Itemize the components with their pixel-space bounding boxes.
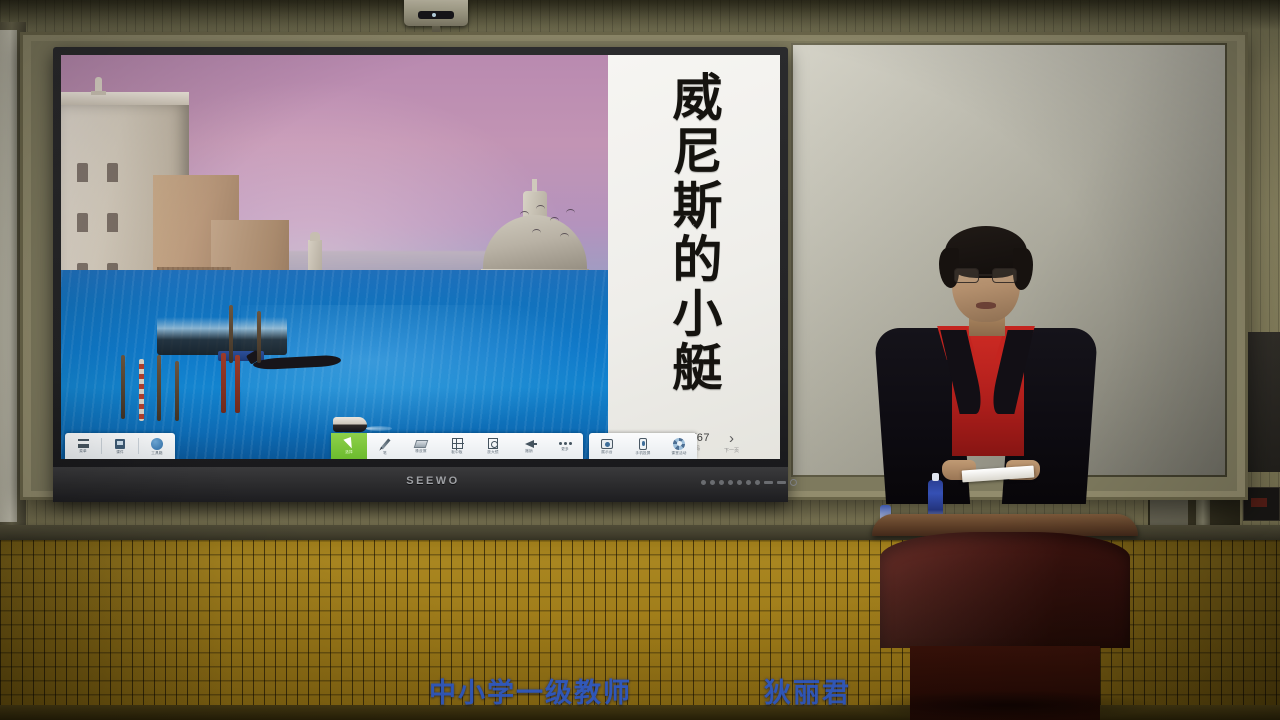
- classroom-scene: 威尼斯的小艇 ‹ 上一页 44/67 页码 ›: [0, 0, 1280, 720]
- slide-title: 威尼斯的小艇: [668, 71, 721, 439]
- document-camera-button[interactable]: 展示台: [589, 433, 625, 459]
- presenter-mouth: [976, 302, 996, 309]
- mooring-pole-striped: [139, 359, 144, 421]
- more-dots-icon: [559, 442, 572, 446]
- lectern-floor-shadow: [858, 690, 1158, 720]
- more-button[interactable]: 更多: [547, 433, 583, 459]
- menu-label: 菜单: [79, 449, 87, 453]
- pen-icon: [380, 438, 390, 449]
- display-control-keys[interactable]: [701, 476, 805, 488]
- presentation-slide[interactable]: 威尼斯的小艇 ‹ 上一页 44/67 页码 ›: [61, 55, 780, 459]
- mooring-pole: [121, 355, 125, 419]
- window: [77, 163, 88, 182]
- document-camera-label: 展示台: [601, 450, 612, 454]
- birds-flock-icon: [516, 205, 586, 245]
- slide-title-panel: 威尼斯的小艇 ‹ 上一页 44/67 页码 ›: [608, 55, 780, 459]
- class-activity-button[interactable]: 课堂活动: [661, 433, 697, 459]
- eraser-icon: [414, 440, 429, 448]
- cursor-arrow-icon: [343, 437, 354, 450]
- courseware-button[interactable]: 课件: [102, 433, 138, 459]
- pen-tool-button[interactable]: 笔: [367, 433, 403, 459]
- projector-led: [432, 13, 436, 17]
- more-label: 更多: [561, 447, 569, 451]
- undo-arrow-icon: [525, 440, 534, 448]
- ceiling-projector-icon: [404, 0, 468, 26]
- water-shimmer: [241, 305, 608, 445]
- mooring-pole: [257, 311, 261, 363]
- mooring-pole-red: [235, 355, 240, 413]
- mooring-pole: [175, 361, 179, 421]
- board-in-board-button[interactable]: 板中板: [439, 433, 475, 459]
- motorboat-icon: [333, 417, 367, 432]
- grid-icon: [452, 438, 463, 449]
- wall-outlet: [1243, 487, 1280, 521]
- class-activity-label: 课堂活动: [671, 451, 686, 455]
- window: [107, 213, 118, 232]
- select-tool-button[interactable]: 选择: [331, 433, 367, 459]
- screen-cast-label: 手机投屏: [635, 451, 650, 455]
- zoom-icon: [488, 438, 498, 449]
- mooring-pole-red: [221, 353, 226, 413]
- toolbar-left-group: 菜单 课件 工具箱: [65, 433, 175, 459]
- undo-label: 撤销: [525, 449, 533, 453]
- next-page-button[interactable]: › 下一页: [724, 431, 739, 454]
- lectern-front-panel: [880, 532, 1130, 648]
- camera-icon: [601, 439, 613, 449]
- mooring-pole: [229, 305, 233, 363]
- phone-cast-icon: [639, 438, 647, 450]
- menu-icon: [78, 439, 89, 448]
- ceiling-shadow: [0, 0, 1280, 30]
- tools-circle-icon: [151, 438, 163, 450]
- roof-statue: [95, 77, 102, 94]
- toolbox-label: 工具箱: [151, 451, 162, 455]
- display-screen[interactable]: 威尼斯的小艇 ‹ 上一页 44/67 页码 ›: [61, 55, 780, 459]
- eyeglasses-icon: [954, 268, 1018, 283]
- settings-gear-icon: [673, 438, 685, 450]
- menu-button[interactable]: 菜单: [65, 433, 101, 459]
- undo-button[interactable]: 撤销: [511, 433, 547, 459]
- select-tool-label: 选择: [345, 450, 353, 454]
- moored-boats: [157, 317, 287, 355]
- magnifier-button[interactable]: 放大镜: [475, 433, 511, 459]
- interactive-display[interactable]: 威尼斯的小艇 ‹ 上一页 44/67 页码 ›: [53, 47, 788, 502]
- display-brand-label: SEEWO: [388, 473, 478, 489]
- screen-cast-button[interactable]: 手机投屏: [625, 433, 661, 459]
- seewo-toolbar: 菜单 课件 工具箱: [61, 433, 780, 459]
- next-page-label: 下一页: [724, 447, 739, 454]
- courseware-label: 课件: [116, 450, 124, 454]
- venice-photo: [61, 55, 608, 459]
- presenter-figure: [866, 222, 1106, 522]
- chevron-right-icon: ›: [729, 431, 734, 446]
- display-bottom-bezel: SEEWO: [53, 467, 788, 502]
- magnifier-label: 放大镜: [487, 450, 498, 454]
- board-in-board-label: 板中板: [451, 450, 462, 454]
- window: [77, 213, 88, 232]
- eraser-tool-label: 橡皮擦: [415, 449, 426, 453]
- toolbox-button[interactable]: 工具箱: [139, 433, 175, 459]
- toolbar-right-group: 展示台 手机投屏 课堂活动: [589, 433, 697, 459]
- eraser-tool-button[interactable]: 橡皮擦: [403, 433, 439, 459]
- window: [107, 163, 118, 182]
- thumbnail-icon: [115, 439, 125, 449]
- mooring-pole: [157, 355, 161, 421]
- toolbar-tools-group: 选择 笔 橡皮擦 板中板: [331, 433, 583, 459]
- power-icon[interactable]: [790, 479, 797, 486]
- left-door-panel: [0, 30, 17, 522]
- pen-tool-label: 笔: [383, 451, 387, 455]
- projector-lens: [418, 11, 454, 19]
- palazzo-roofline: [61, 92, 189, 105]
